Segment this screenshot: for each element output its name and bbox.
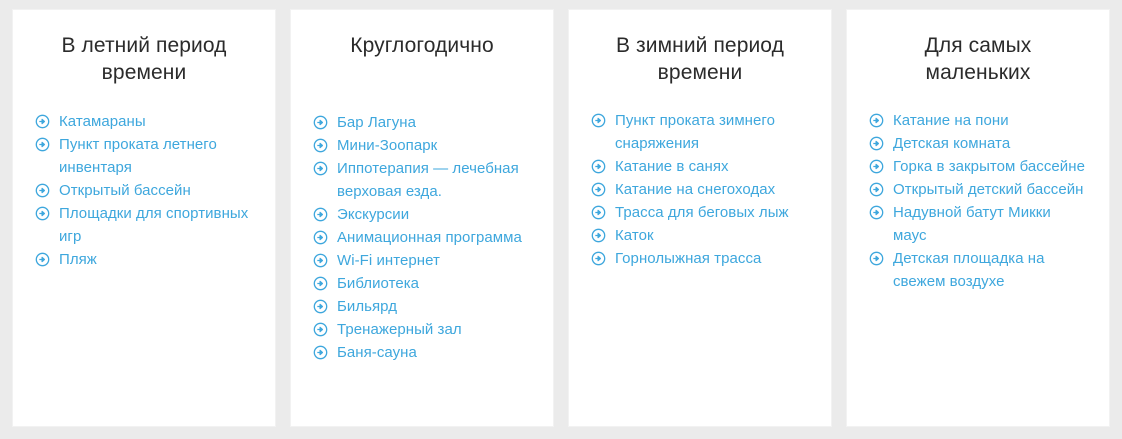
circle-arrow-right-icon	[313, 345, 328, 360]
list-item-label: Баня-сауна	[337, 341, 531, 364]
circle-arrow-right-icon	[313, 115, 328, 130]
list-item-label: Детская площадка на свежем воздухе	[893, 247, 1087, 293]
circle-arrow-right-icon	[313, 276, 328, 291]
list-item-label: Анимационная программа	[337, 226, 531, 249]
list-item-label: Площадки для спортивных игр	[59, 202, 253, 248]
list-item-label: Катамараны	[59, 110, 253, 133]
list-item[interactable]: Горка в закрытом бассейне	[869, 155, 1087, 178]
list-item-label: Трасса для беговых лыж	[615, 201, 809, 224]
list-item[interactable]: Баня-сауна	[313, 341, 531, 364]
list-item[interactable]: Библиотека	[313, 272, 531, 295]
list-item[interactable]: Детская площадка на свежем воздухе	[869, 247, 1087, 293]
circle-arrow-right-icon	[869, 251, 884, 266]
circle-arrow-right-icon	[869, 182, 884, 197]
card-title: В летний период времени	[35, 32, 253, 86]
services-card-yearround: Круглогодично Бар Лагуна М	[290, 9, 554, 427]
list-item-label: Открытый бассейн	[59, 179, 253, 202]
services-list: Катание на пони Детская комната	[869, 86, 1087, 293]
list-item[interactable]: Горнолыжная трасса	[591, 247, 809, 270]
list-item[interactable]: Тренажерный зал	[313, 318, 531, 341]
services-card-winter: В зимний период времени Пункт проката зи…	[568, 9, 832, 427]
list-item-label: Пункт проката летнего инвентаря	[59, 133, 253, 179]
list-item[interactable]: Катание в санях	[591, 155, 809, 178]
services-list: Пункт проката зимнего снаряжения Катание…	[591, 86, 809, 270]
services-list: Катамараны Пункт проката летнего инвента…	[35, 86, 253, 271]
list-item-label: Пляж	[59, 248, 253, 271]
list-item[interactable]: Пункт проката летнего инвентаря	[35, 133, 253, 179]
card-title: Для самых маленьких	[869, 32, 1087, 86]
list-item[interactable]: Открытый детский бассейн	[869, 178, 1087, 201]
list-item[interactable]: Детская комната	[869, 132, 1087, 155]
circle-arrow-right-icon	[591, 159, 606, 174]
circle-arrow-right-icon	[313, 322, 328, 337]
circle-arrow-right-icon	[35, 114, 50, 129]
list-item-label: Wi-Fi интернет	[337, 249, 531, 272]
circle-arrow-right-icon	[313, 161, 328, 176]
list-item[interactable]: Катание на пони	[869, 109, 1087, 132]
list-item-label: Катание на пони	[893, 109, 1087, 132]
circle-arrow-right-icon	[35, 183, 50, 198]
list-item-label: Каток	[615, 224, 809, 247]
circle-arrow-right-icon	[869, 159, 884, 174]
list-item[interactable]: Экскурсии	[313, 203, 531, 226]
list-item[interactable]: Бар Лагуна	[313, 111, 531, 134]
circle-arrow-right-icon	[35, 252, 50, 267]
circle-arrow-right-icon	[869, 113, 884, 128]
list-item[interactable]: Мини-Зоопарк	[313, 134, 531, 157]
circle-arrow-right-icon	[313, 230, 328, 245]
list-item-label: Горка в закрытом бассейне	[893, 155, 1087, 178]
list-item-label: Катание в санях	[615, 155, 809, 178]
circle-arrow-right-icon	[869, 136, 884, 151]
circle-arrow-right-icon	[591, 205, 606, 220]
list-item-label: Открытый детский бассейн	[893, 178, 1087, 201]
services-columns-board: В летний период времени Катамараны	[0, 0, 1122, 439]
circle-arrow-right-icon	[313, 253, 328, 268]
list-item[interactable]: Каток	[591, 224, 809, 247]
circle-arrow-right-icon	[591, 251, 606, 266]
list-item[interactable]: Надувной батут Микки маус	[869, 201, 1087, 247]
list-item-label: Катание на снегоходах	[615, 178, 809, 201]
list-item-label: Бильярд	[337, 295, 531, 318]
list-item-label: Тренажерный зал	[337, 318, 531, 341]
list-item-label: Библиотека	[337, 272, 531, 295]
list-item-label: Надувной батут Микки маус	[893, 201, 1087, 247]
list-item[interactable]: Анимационная программа	[313, 226, 531, 249]
services-list: Бар Лагуна Мини-Зоопарк	[313, 86, 531, 364]
list-item-label: Иппотерапия — лечебная верховая езда.	[337, 157, 531, 203]
card-title: В зимний период времени	[591, 32, 809, 86]
circle-arrow-right-icon	[313, 207, 328, 222]
list-item[interactable]: Катамараны	[35, 110, 253, 133]
list-item-label: Мини-Зоопарк	[337, 134, 531, 157]
circle-arrow-right-icon	[869, 205, 884, 220]
circle-arrow-right-icon	[313, 299, 328, 314]
card-title: Круглогодично	[313, 32, 531, 86]
list-item[interactable]: Бильярд	[313, 295, 531, 318]
circle-arrow-right-icon	[35, 137, 50, 152]
services-card-summer: В летний период времени Катамараны	[12, 9, 276, 427]
circle-arrow-right-icon	[591, 228, 606, 243]
list-item[interactable]: Катание на снегоходах	[591, 178, 809, 201]
list-item[interactable]: Трасса для беговых лыж	[591, 201, 809, 224]
list-item[interactable]: Открытый бассейн	[35, 179, 253, 202]
list-item-label: Пункт проката зимнего снаряжения	[615, 109, 809, 155]
list-item-label: Детская комната	[893, 132, 1087, 155]
list-item[interactable]: Площадки для спортивных игр	[35, 202, 253, 248]
services-card-kids: Для самых маленьких Катание на пони	[846, 9, 1110, 427]
list-item[interactable]: Иппотерапия — лечебная верховая езда.	[313, 157, 531, 203]
list-item[interactable]: Wi-Fi интернет	[313, 249, 531, 272]
list-item-label: Горнолыжная трасса	[615, 247, 809, 270]
circle-arrow-right-icon	[313, 138, 328, 153]
circle-arrow-right-icon	[35, 206, 50, 221]
circle-arrow-right-icon	[591, 113, 606, 128]
list-item-label: Экскурсии	[337, 203, 531, 226]
list-item-label: Бар Лагуна	[337, 111, 531, 134]
circle-arrow-right-icon	[591, 182, 606, 197]
list-item[interactable]: Пляж	[35, 248, 253, 271]
list-item[interactable]: Пункт проката зимнего снаряжения	[591, 109, 809, 155]
